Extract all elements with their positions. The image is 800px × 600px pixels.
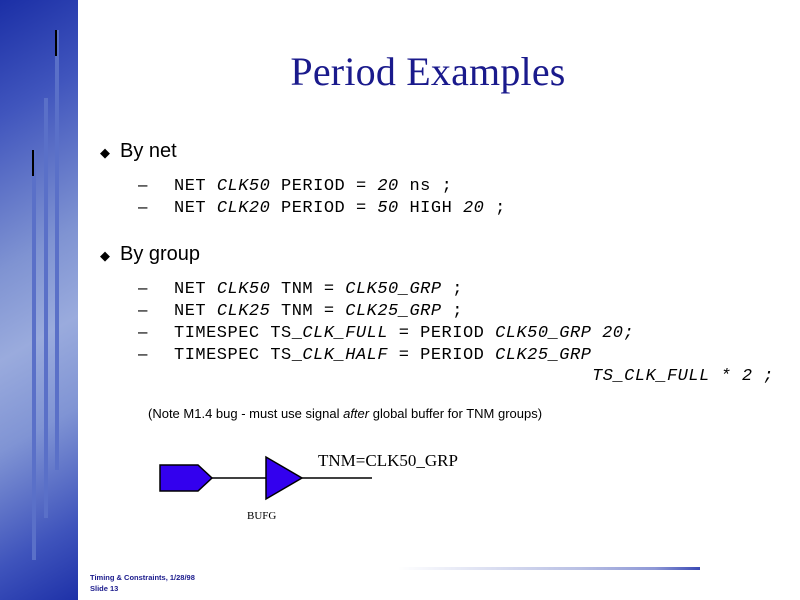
sub-bullet-net-clk50-tnm: – NET CLK50 TNM = CLK50_GRP ;	[138, 278, 790, 299]
code-keyword-high: HIGH	[399, 199, 463, 218]
code-operand-net: CLK50	[217, 280, 271, 299]
code-operand-timespec-name: CLK_FULL	[302, 324, 388, 343]
code-operand-value: 50	[377, 199, 398, 218]
code-operand-value: 20	[377, 177, 398, 196]
note-text-before: (Note M1.4 bug - must use signal	[148, 406, 343, 421]
footer-text: Timing & Constraints, 1/28/98 Slide 13	[90, 572, 195, 594]
sidebar-vertical-line-2	[44, 98, 48, 518]
code-keyword: NET	[174, 302, 217, 321]
sub-bullet-timespec-clk-full: – TIMESPEC TS_CLK_FULL = PERIOD CLK50_GR…	[138, 322, 790, 343]
code-units: ns ;	[399, 177, 453, 196]
footer-rule	[398, 567, 700, 570]
sidebar-tick-mark-mid	[32, 150, 34, 176]
pentagon-pad-icon	[160, 465, 212, 491]
bullet-item-by-group: ◆ By group	[100, 243, 790, 266]
dash-bullet-icon: –	[138, 197, 174, 217]
code-keyword: NET	[174, 177, 217, 196]
code-terminator: ;	[442, 280, 463, 299]
bullet-label-by-group: By group	[120, 243, 200, 266]
dash-bullet-icon: –	[138, 175, 174, 195]
code-keyword: NET	[174, 199, 217, 218]
code-terminator: ;	[484, 199, 505, 218]
dash-bullet-icon: –	[138, 300, 174, 320]
code-keyword-timespec: TIMESPEC TS_	[174, 324, 302, 343]
slide-body: ◆ By net – NET CLK50 PERIOD = 20 ns ; – …	[100, 140, 790, 421]
code-operand-group-value: CLK25_GRP	[495, 346, 591, 365]
code-operand-net: CLK25	[217, 302, 271, 321]
code-keyword-tnm: TNM =	[270, 280, 345, 299]
sidebar-tick-mark-top	[55, 30, 57, 56]
code-keyword-period: = PERIOD	[388, 324, 495, 343]
code-keyword-period: PERIOD =	[270, 177, 377, 196]
note-text-after: global buffer for TNM groups)	[369, 406, 542, 421]
code-line-net-clk20-period: NET CLK20 PERIOD = 50 HIGH 20 ;	[174, 199, 506, 218]
diamond-bullet-icon: ◆	[100, 146, 120, 159]
code-operand-group-value: CLK50_GRP 20;	[495, 324, 634, 343]
sidebar-decoration	[0, 0, 78, 600]
code-keyword: NET	[174, 280, 217, 299]
sub-bullet-net-clk20-period: – NET CLK20 PERIOD = 50 HIGH 20 ;	[138, 197, 790, 218]
code-operand-high-value: 20	[463, 199, 484, 218]
code-keyword-period: = PERIOD	[388, 346, 495, 365]
code-operand-net: CLK50	[217, 177, 271, 196]
code-line-timespec-clk-half: TIMESPEC TS_CLK_HALF = PERIOD CLK25_GRP	[174, 346, 591, 365]
sub-bullet-net-clk25-tnm: – NET CLK25 TNM = CLK25_GRP ;	[138, 300, 790, 321]
code-line-net-clk25-tnm: NET CLK25 TNM = CLK25_GRP ;	[174, 302, 463, 321]
net-label-tnm: TNM=CLK50_GRP	[318, 451, 458, 471]
code-terminator: ;	[442, 302, 463, 321]
diamond-bullet-icon: ◆	[100, 249, 120, 262]
code-line-net-clk50-period: NET CLK50 PERIOD = 20 ns ;	[174, 177, 452, 196]
code-keyword-period: PERIOD =	[270, 199, 377, 218]
footer-line-slide-number: Slide 13	[90, 583, 195, 594]
buffer-label-bufg: BUFG	[247, 510, 276, 522]
code-continuation-expression: TS_CLK_FULL * 2 ;	[592, 367, 774, 386]
bufg-diagram: TNM=CLK50_GRP BUFG	[150, 455, 570, 535]
code-keyword-tnm: TNM =	[270, 302, 345, 321]
note-text-emphasis: after	[343, 406, 369, 421]
bullet-item-by-net: ◆ By net	[100, 140, 790, 163]
bullet-label-by-net: By net	[120, 140, 177, 163]
dash-bullet-icon: –	[138, 278, 174, 298]
code-operand-group: CLK50_GRP	[345, 280, 441, 299]
footer-line-title: Timing & Constraints, 1/28/98	[90, 572, 195, 583]
dash-bullet-icon: –	[138, 322, 174, 342]
sub-bullet-timespec-clk-half: – TIMESPEC TS_CLK_HALF = PERIOD CLK25_GR…	[138, 344, 790, 365]
slide-canvas: Period Examples ◆ By net – NET CLK50 PER…	[0, 0, 800, 600]
code-operand-timespec-name: CLK_HALF	[302, 346, 388, 365]
code-keyword-timespec: TIMESPEC TS_	[174, 346, 302, 365]
code-operand-net: CLK20	[217, 199, 271, 218]
sub-bullet-net-clk50-period: – NET CLK50 PERIOD = 20 ns ;	[138, 175, 790, 196]
code-operand-group: CLK25_GRP	[345, 302, 441, 321]
code-line-net-clk50-tnm: NET CLK50 TNM = CLK50_GRP ;	[174, 280, 463, 299]
dash-bullet-icon: –	[138, 344, 174, 364]
page-title: Period Examples	[78, 48, 778, 95]
code-line-timespec-clk-full: TIMESPEC TS_CLK_FULL = PERIOD CLK50_GRP …	[174, 324, 634, 343]
code-line-continuation: TS_CLK_FULL * 2 ;	[174, 367, 774, 386]
sidebar-vertical-line-1	[32, 150, 36, 560]
note-text: (Note M1.4 bug - must use signal after g…	[148, 406, 790, 421]
triangle-buffer-icon	[266, 457, 302, 499]
sidebar-vertical-line-3	[55, 30, 59, 470]
